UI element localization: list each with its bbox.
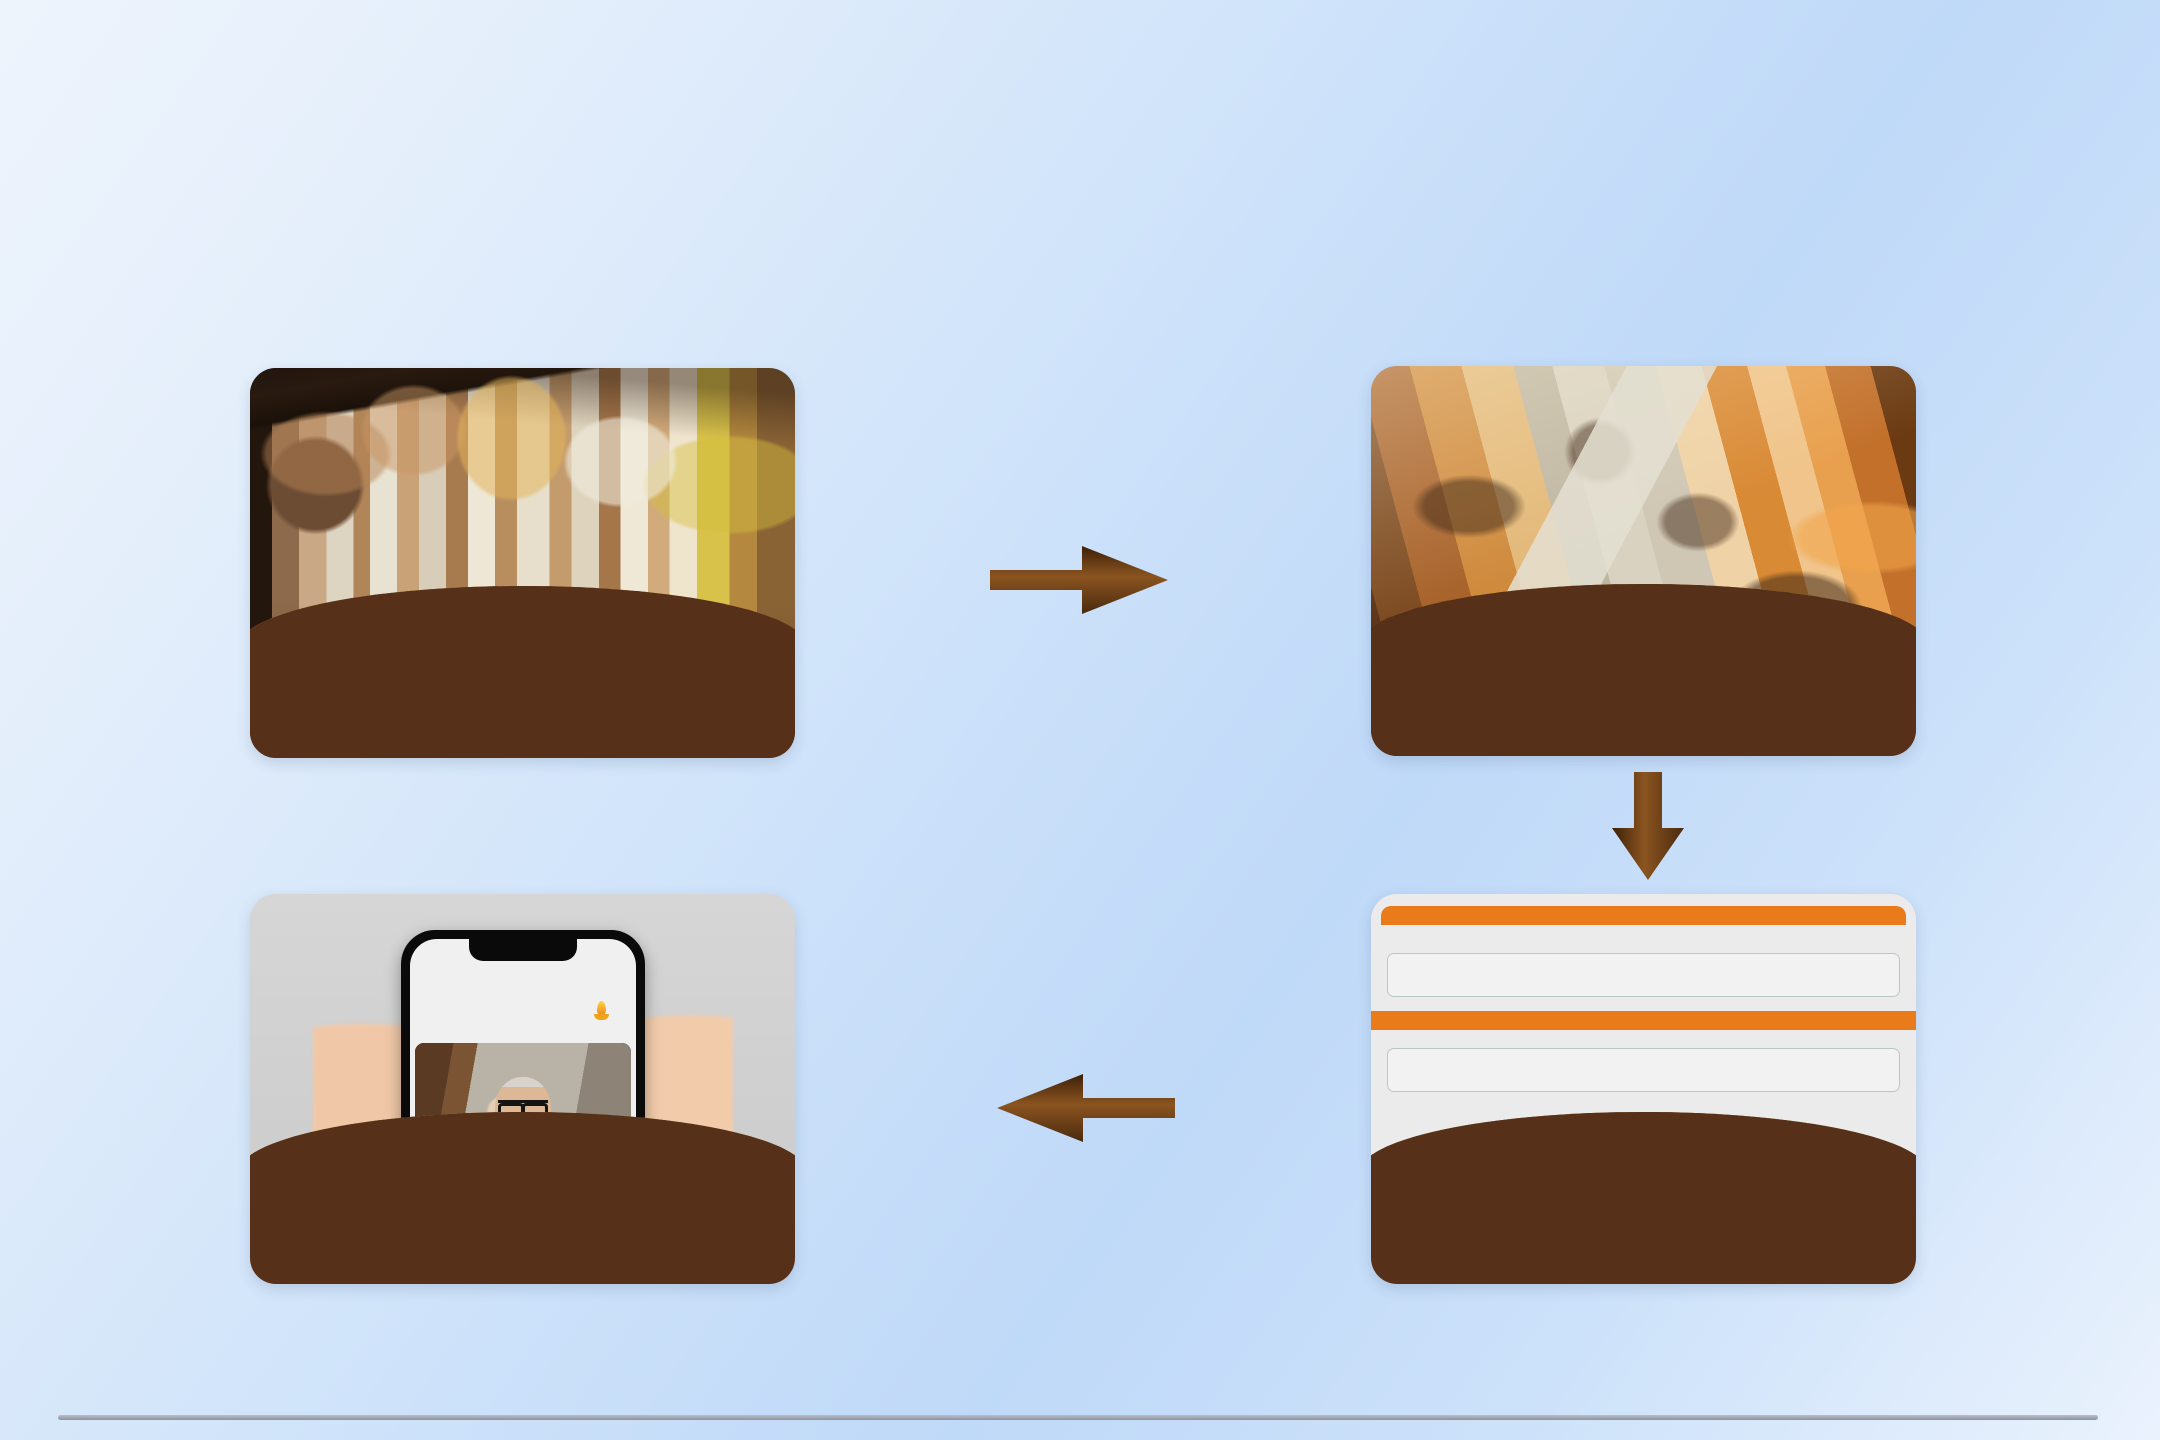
- phone-notch-icon: [469, 939, 577, 961]
- step-card-1[interactable]: [250, 368, 795, 758]
- gotra-input[interactable]: [1387, 1048, 1900, 1092]
- arrow-down-step2-to-step3: [1608, 772, 1688, 882]
- arrow-left-step3-to-step4: [995, 1068, 1175, 1148]
- glasses-icon: [498, 1100, 548, 1112]
- first-member-name-input[interactable]: [1387, 953, 1900, 997]
- bottom-decorative-border: [0, 1324, 2160, 1414]
- form-header-members: [1381, 906, 1906, 925]
- step-card-4[interactable]: ▶ 🔊 ⛶ ⋮: [250, 894, 795, 1284]
- form-header-gotra: [1371, 1011, 1916, 1030]
- app-brand: [594, 1001, 614, 1020]
- step-card-2[interactable]: [1371, 366, 1916, 756]
- bottom-rule: [58, 1415, 2098, 1420]
- form-note-gotra: [1371, 1030, 1916, 1048]
- step-2-caption: [1371, 584, 1916, 756]
- step-4-caption: [250, 1112, 795, 1284]
- step-card-3[interactable]: [1371, 894, 1916, 1284]
- diya-lamp-icon: [594, 1001, 609, 1020]
- step-1-caption: [250, 586, 795, 758]
- step-3-caption: [1371, 1112, 1916, 1284]
- top-decorative-border: [0, 0, 2160, 64]
- arrow-right-step1-to-step2: [990, 540, 1170, 620]
